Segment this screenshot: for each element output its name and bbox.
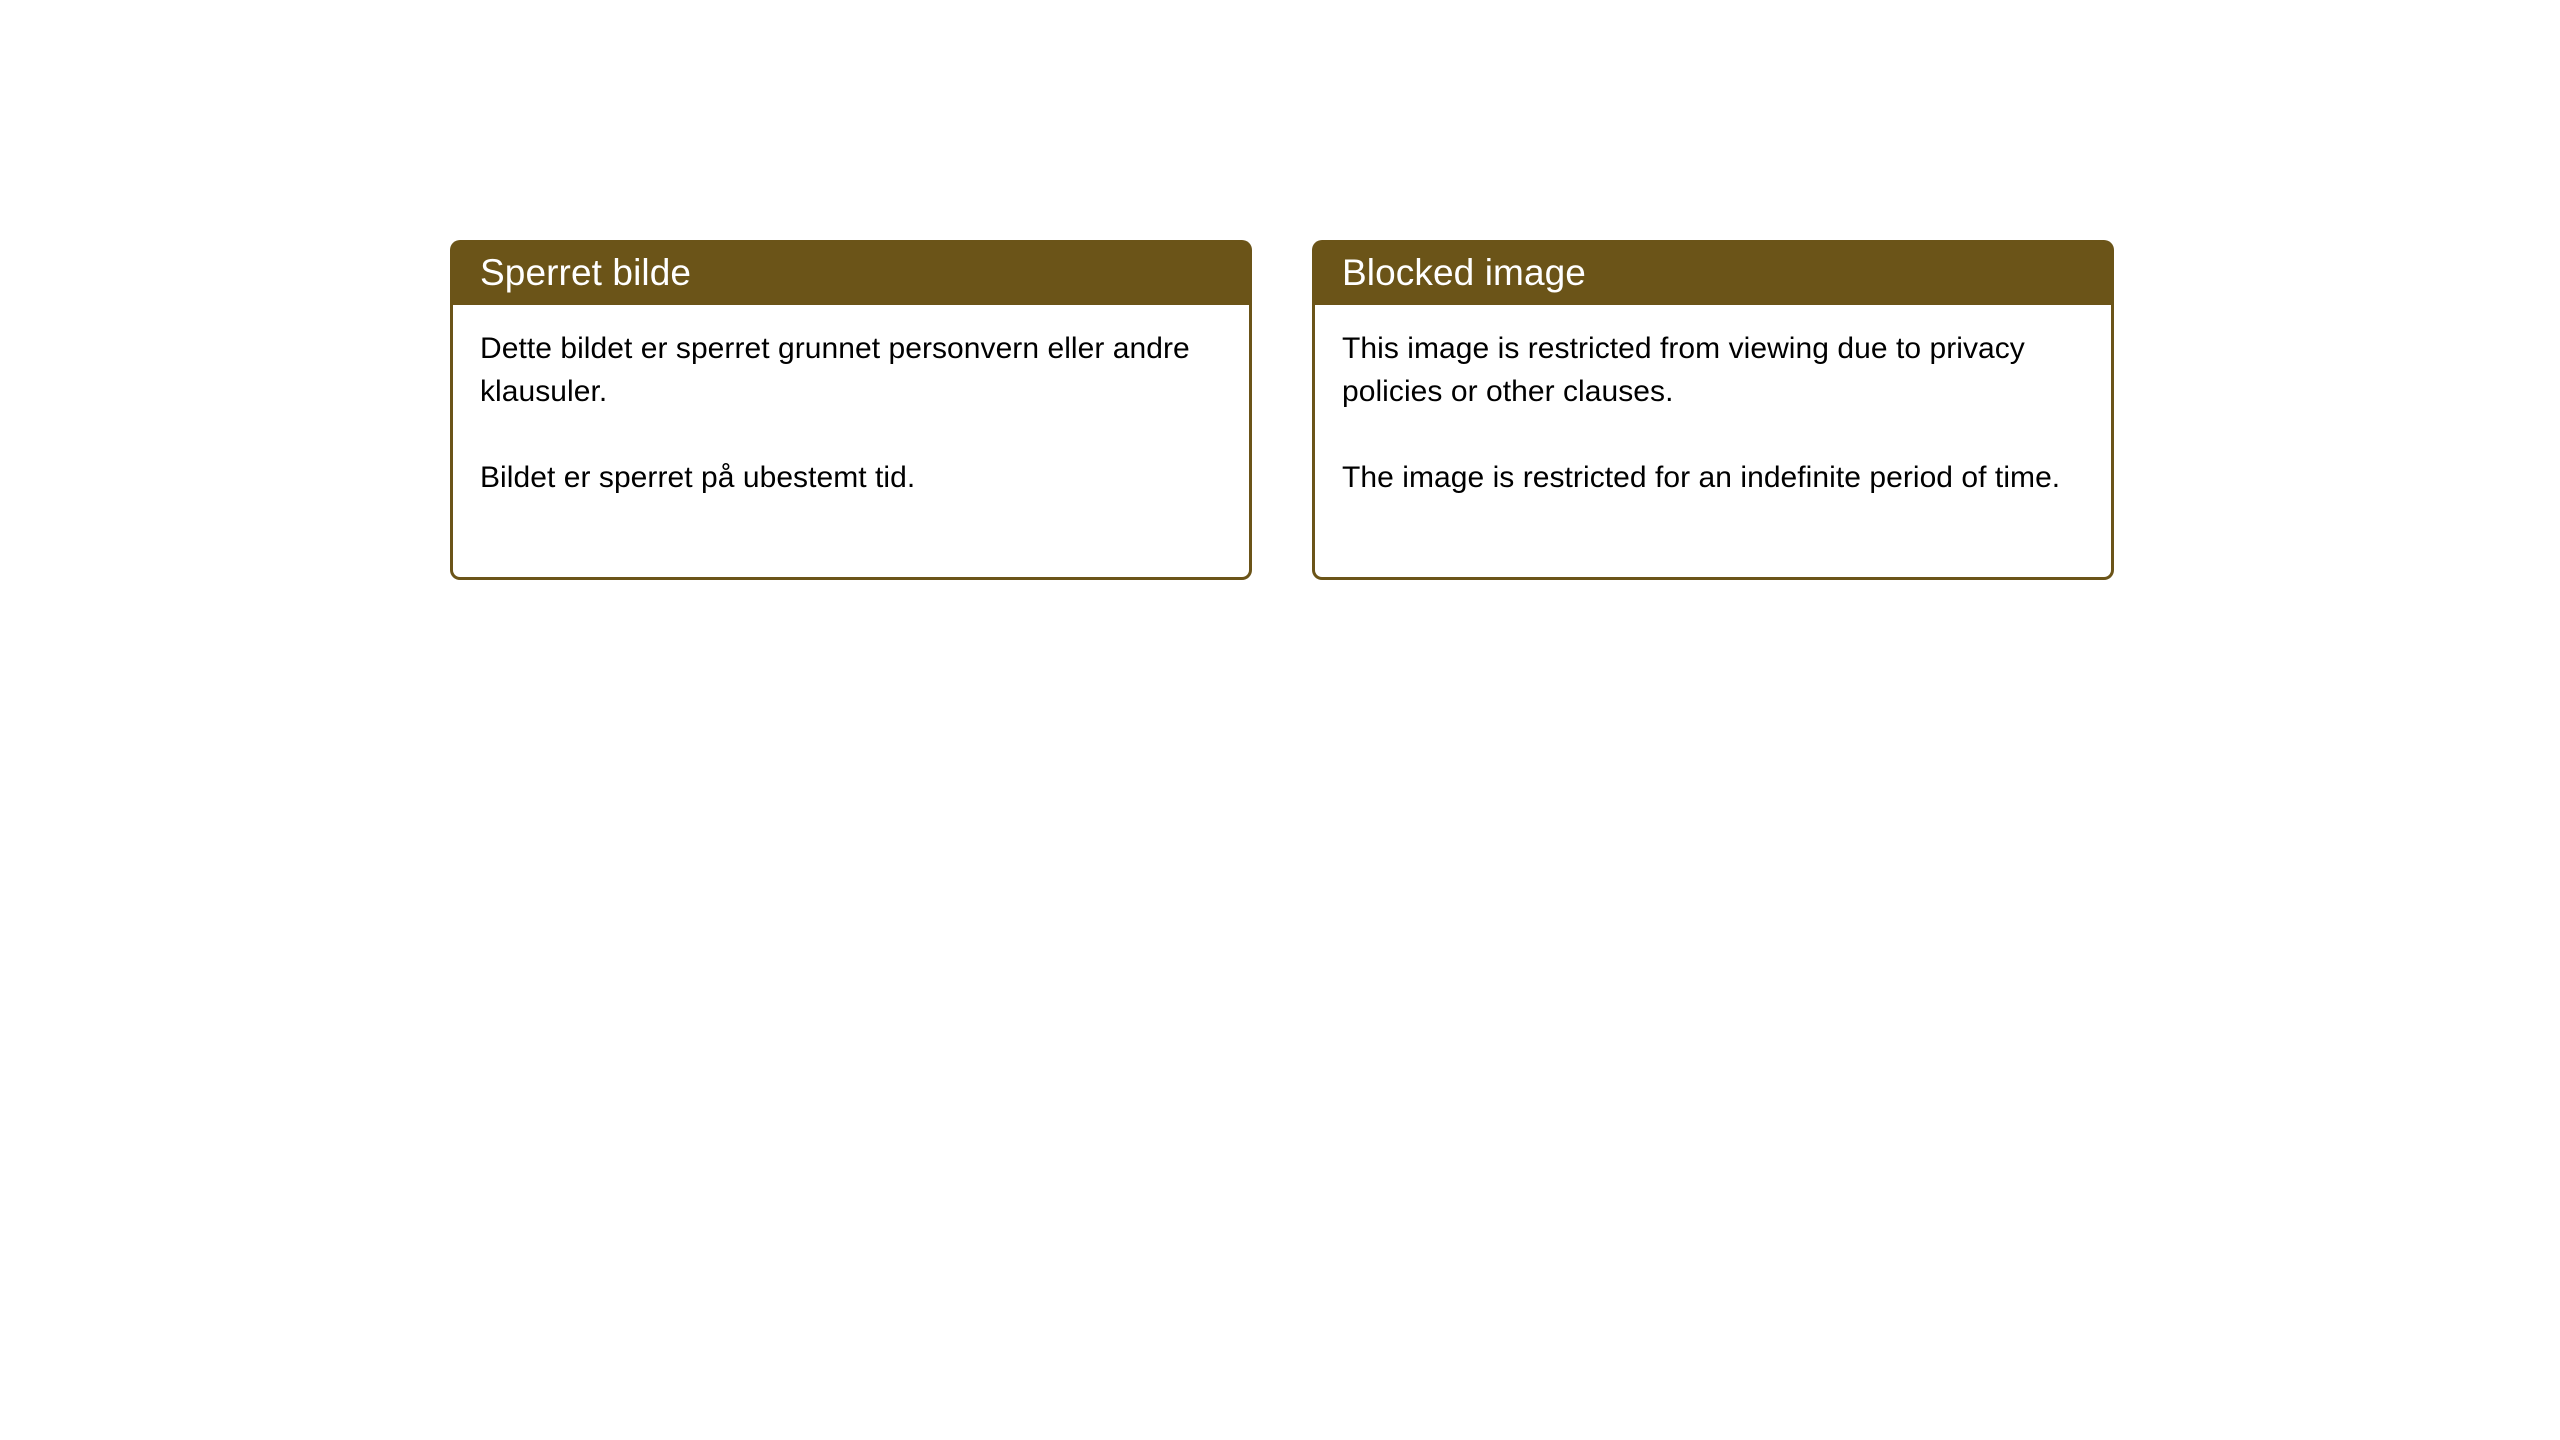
notice-header-en: Blocked image xyxy=(1312,240,2114,305)
notice-title-no: Sperret bilde xyxy=(480,254,691,291)
notice-body-en: This image is restricted from viewing du… xyxy=(1312,305,2114,580)
notice-header-no: Sperret bilde xyxy=(450,240,1252,305)
blocked-image-notice-no: Sperret bilde Dette bildet er sperret gr… xyxy=(450,240,1252,580)
page-root: Sperret bilde Dette bildet er sperret gr… xyxy=(0,0,2560,1440)
notice-paragraph-no-2: Bildet er sperret på ubestemt tid. xyxy=(480,456,1221,499)
notice-body-no: Dette bildet er sperret grunnet personve… xyxy=(450,305,1252,580)
notice-card-group: Sperret bilde Dette bildet er sperret gr… xyxy=(450,240,2114,580)
notice-paragraph-no-1: Dette bildet er sperret grunnet personve… xyxy=(480,327,1221,413)
notice-paragraph-en-1: This image is restricted from viewing du… xyxy=(1342,327,2083,413)
notice-title-en: Blocked image xyxy=(1342,254,1586,291)
blocked-image-notice-en: Blocked image This image is restricted f… xyxy=(1312,240,2114,580)
notice-paragraph-en-2: The image is restricted for an indefinit… xyxy=(1342,456,2083,499)
